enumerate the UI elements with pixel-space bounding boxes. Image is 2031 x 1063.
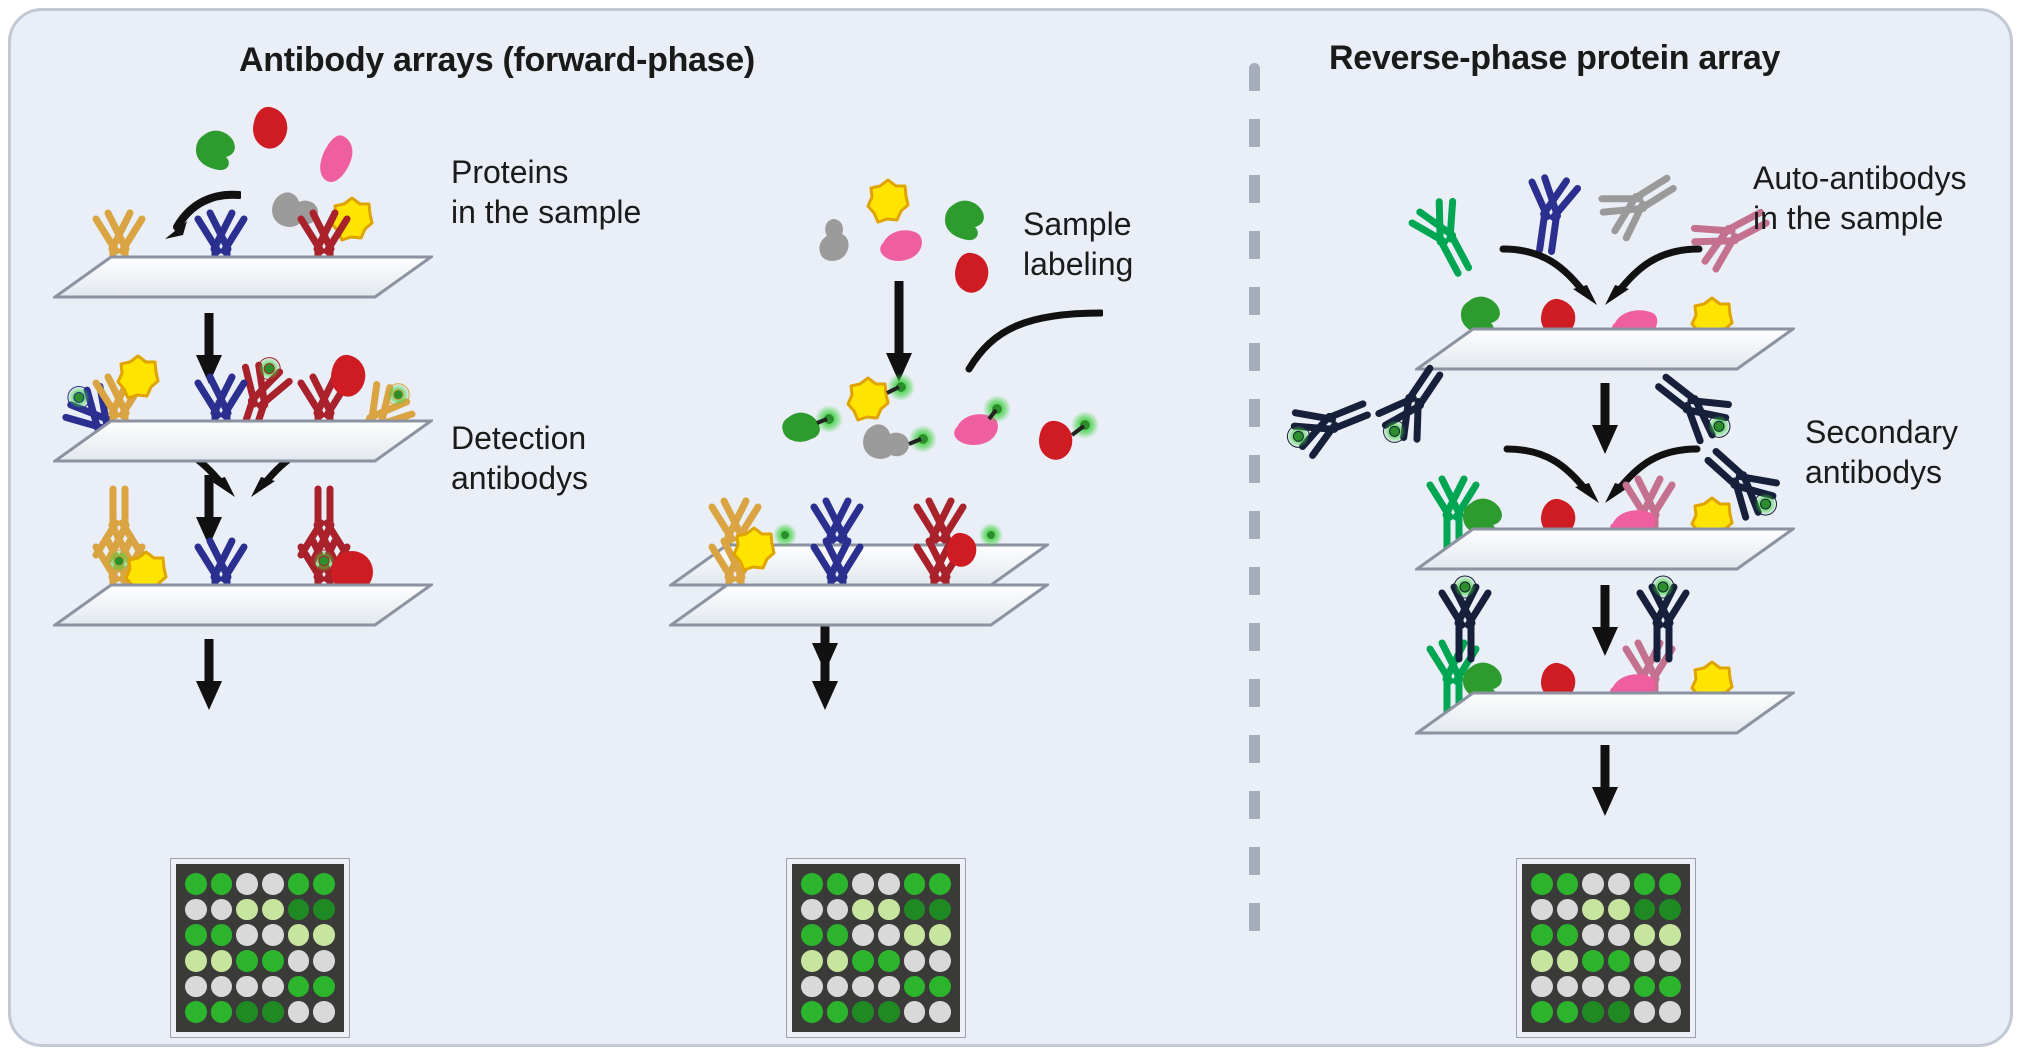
- array-spot: [1659, 976, 1681, 998]
- array-spot: [1634, 899, 1656, 921]
- array-spot: [1634, 950, 1656, 972]
- array-spot: [1608, 899, 1630, 921]
- array-spot: [211, 950, 233, 972]
- array-spot: [904, 899, 926, 921]
- array-spot: [801, 873, 823, 895]
- bound-labeled-red-c2b: [941, 525, 1007, 571]
- array-spot: [262, 924, 284, 946]
- array-slide-r1: [1415, 327, 1795, 373]
- array-spot: [1557, 924, 1579, 946]
- array-spot: [288, 976, 310, 998]
- array-spot: [1531, 950, 1553, 972]
- array-spot: [827, 924, 849, 946]
- array-spot: [878, 950, 900, 972]
- labeled-protein-pink: [951, 399, 1027, 451]
- array-spot: [1531, 924, 1553, 946]
- secondary-antibody-navy-1: [1282, 382, 1377, 467]
- array-spot: [1531, 899, 1553, 921]
- binding-arrow-right-rppa: [1591, 239, 1703, 309]
- bound-labeled-yellow-c2b: [733, 525, 801, 571]
- array-spot: [211, 924, 233, 946]
- array-readout-rppa: [1517, 859, 1695, 1037]
- array-readout-label-based: [787, 859, 965, 1037]
- array-spot: [878, 873, 900, 895]
- array-spot: [801, 950, 823, 972]
- array-spot: [211, 1001, 233, 1023]
- array-spot: [827, 873, 849, 895]
- array-spot: [1608, 924, 1630, 946]
- array-spot: [904, 950, 926, 972]
- array-spot: [313, 1001, 335, 1023]
- array-slide-r2: [1415, 527, 1795, 573]
- sandwich-secondary-navy-left-r3: [1435, 581, 1495, 659]
- array-slide-3: [53, 583, 433, 629]
- array-spot: [1659, 1001, 1681, 1023]
- array-spot: [1634, 1001, 1656, 1023]
- flow-arrow-r3: [1589, 743, 1621, 817]
- array-spot: [211, 899, 233, 921]
- array-spot: [1531, 976, 1553, 998]
- array-spot: [262, 950, 284, 972]
- array-spot: [262, 873, 284, 895]
- labeled-protein-gray: [857, 417, 943, 473]
- array-spot: [185, 873, 207, 895]
- protein-green-free: [192, 127, 240, 173]
- array-spot: [1634, 873, 1656, 895]
- array-spot: [236, 873, 258, 895]
- array-spot: [852, 950, 874, 972]
- array-spot: [904, 1001, 926, 1023]
- array-spot: [852, 1001, 874, 1023]
- array-spot: [1557, 899, 1579, 921]
- array-spot: [1659, 873, 1681, 895]
- array-spot: [313, 976, 335, 998]
- array-readout-sandwich: [171, 859, 349, 1037]
- protein-yellow-free-2: [867, 179, 909, 223]
- sample-labeling-callout-arrow: [897, 307, 1103, 375]
- label-proteins-in-sample: Proteins in the sample: [451, 153, 641, 232]
- figure-frame: Antibody arrays (forward-phase) Reverse-…: [8, 8, 2013, 1047]
- array-spot: [1582, 899, 1604, 921]
- array-spot: [904, 976, 926, 998]
- array-spot: [852, 899, 874, 921]
- array-spot: [852, 873, 874, 895]
- array-spot: [236, 899, 258, 921]
- array-spot: [262, 976, 284, 998]
- array-spot: [211, 976, 233, 998]
- array-spot: [313, 873, 335, 895]
- array-spot: [1608, 873, 1630, 895]
- array-spot: [1634, 924, 1656, 946]
- array-spot: [1582, 873, 1604, 895]
- array-spot: [313, 950, 335, 972]
- array-spot: [1608, 950, 1630, 972]
- labeled-protein-green: [777, 405, 853, 455]
- protein-gray-free-2: [815, 217, 855, 271]
- array-spot: [288, 1001, 310, 1023]
- array-spot: [1608, 976, 1630, 998]
- array-spot: [929, 899, 951, 921]
- array-spot: [878, 924, 900, 946]
- flow-arrow-c2-2: [809, 637, 841, 711]
- array-spot: [236, 976, 258, 998]
- array-spot: [1531, 1001, 1553, 1023]
- array-spot: [288, 899, 310, 921]
- array-spot: [236, 924, 258, 946]
- array-spot: [288, 950, 310, 972]
- array-spot: [236, 1001, 258, 1023]
- array-spot: [1608, 1001, 1630, 1023]
- array-spot: [904, 873, 926, 895]
- flow-arrow-r2: [1589, 583, 1621, 657]
- panel-title-right: Reverse-phase protein array: [1329, 39, 1780, 78]
- panel-divider: [1249, 63, 1260, 941]
- array-spot: [801, 1001, 823, 1023]
- flow-arrow-3: [193, 637, 225, 711]
- array-spot: [827, 899, 849, 921]
- protein-green-free-2: [941, 197, 989, 243]
- array-spot: [1557, 976, 1579, 998]
- array-spot: [904, 924, 926, 946]
- array-spot: [1634, 976, 1656, 998]
- array-spot: [827, 976, 849, 998]
- array-spot: [929, 924, 951, 946]
- bound-protein-yellow-2: [117, 355, 159, 399]
- array-spot: [1557, 950, 1579, 972]
- auto-antibody-gray: [1588, 158, 1686, 250]
- array-spot: [827, 950, 849, 972]
- array-spot: [1582, 976, 1604, 998]
- array-spot: [929, 950, 951, 972]
- array-spot: [1582, 1001, 1604, 1023]
- array-spot: [1659, 924, 1681, 946]
- array-spot: [211, 873, 233, 895]
- auto-antibody-green: [1400, 187, 1490, 284]
- array-spot: [185, 924, 207, 946]
- array-spot: [313, 924, 335, 946]
- array-spot: [185, 950, 207, 972]
- panel-title-left: Antibody arrays (forward-phase): [239, 41, 755, 80]
- array-spot: [878, 976, 900, 998]
- array-spot: [852, 976, 874, 998]
- array-spot: [801, 924, 823, 946]
- array-spot: [236, 950, 258, 972]
- array-spot: [1582, 950, 1604, 972]
- array-spot: [288, 924, 310, 946]
- array-spot: [801, 899, 823, 921]
- array-spot: [929, 976, 951, 998]
- labeled-protein-red: [1033, 411, 1105, 463]
- array-spot: [827, 1001, 849, 1023]
- array-slide-c2b: [669, 583, 1049, 629]
- protein-pink-free: [313, 133, 359, 187]
- array-spot: [1557, 873, 1579, 895]
- array-spot: [878, 1001, 900, 1023]
- array-spot: [185, 1001, 207, 1023]
- array-spot: [801, 976, 823, 998]
- protein-red-free-2: [949, 251, 993, 295]
- label-detection-antibodys: Detection antibodys: [451, 419, 588, 498]
- array-spot: [929, 873, 951, 895]
- array-spot: [852, 924, 874, 946]
- array-spot: [1557, 1001, 1579, 1023]
- array-slide-2: [53, 419, 433, 465]
- array-spot: [262, 1001, 284, 1023]
- array-slide-r3: [1415, 691, 1795, 737]
- array-spot: [878, 899, 900, 921]
- protein-red-free: [247, 105, 293, 151]
- sandwich-secondary-navy-right-r3: [1633, 581, 1693, 659]
- label-auto-antibodys: Auto-antibodys in the sample: [1753, 159, 1966, 238]
- array-spot: [1582, 924, 1604, 946]
- array-spot: [288, 873, 310, 895]
- label-sample-labeling: Sample labeling: [1023, 205, 1133, 284]
- array-spot: [929, 1001, 951, 1023]
- bound-protein-red-2: [325, 353, 371, 399]
- array-spot: [185, 976, 207, 998]
- label-secondary-antibodys: Secondary antibodys: [1805, 413, 1958, 492]
- array-spot: [262, 899, 284, 921]
- array-spot: [1659, 950, 1681, 972]
- array-spot: [1531, 873, 1553, 895]
- array-spot: [313, 899, 335, 921]
- array-spot: [1659, 899, 1681, 921]
- array-spot: [185, 899, 207, 921]
- protein-pink-free-2: [877, 227, 925, 265]
- array-slide-1: [53, 255, 433, 301]
